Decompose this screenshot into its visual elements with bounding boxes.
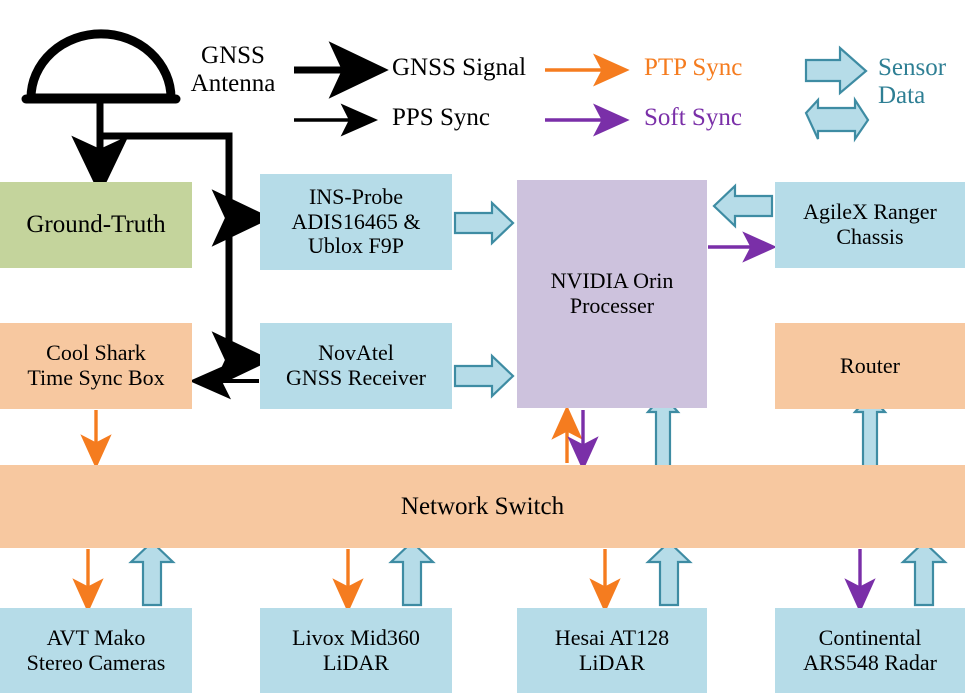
node-novatel[interactable]: NovAtel GNSS Receiver [260, 323, 452, 409]
node-network-switch[interactable]: Network Switch [0, 465, 965, 548]
node-ground-truth[interactable]: Ground-Truth [0, 182, 192, 268]
blockarrow-livox-to-switch [391, 542, 433, 605]
node-avt-mako[interactable]: AVT Mako Stereo Cameras [0, 608, 192, 693]
node-agilex[interactable]: AgileX Ranger Chassis [775, 182, 965, 268]
blockarrow-agilex-to-orin [714, 186, 772, 226]
legend-label-sensor-data: Sensor Data [878, 54, 946, 110]
node-router[interactable]: Router [775, 323, 965, 409]
blockarrow-hesai-to-switch [648, 542, 690, 605]
node-livox[interactable]: Livox Mid360 LiDAR [260, 608, 452, 693]
blockarrow-insprobe-to-orin [455, 203, 513, 243]
legend-label-soft-sync: Soft Sync [644, 104, 742, 132]
antenna-label: GNSS Antenna [178, 42, 288, 98]
legend-label-gnss-signal: GNSS Signal [392, 54, 526, 82]
legend-label-ptp-sync: PTP Sync [644, 54, 742, 82]
node-cool-shark[interactable]: Cool Shark Time Sync Box [0, 323, 192, 409]
node-continental[interactable]: Continental ARS548 Radar [775, 608, 965, 693]
blockarrow-continental-to-switch [903, 542, 945, 605]
gnss-antenna-dome-icon [26, 34, 176, 99]
node-ins-probe[interactable]: INS-Probe ADIS16465 & Ublox F9P [260, 174, 452, 270]
diagram-canvas: GNSS Antenna GNSS Signal PPS Sync PTP Sy… [0, 0, 965, 693]
legend-label-pps-sync: PPS Sync [392, 104, 490, 132]
blockarrow-novatel-to-orin [455, 356, 513, 396]
blockarrow-avtmako-to-switch [131, 542, 173, 605]
node-orin[interactable]: NVIDIA Orin Processer [517, 180, 707, 408]
legend-blockarrow-double [806, 100, 868, 139]
legend-blockarrow-single [806, 48, 866, 93]
node-hesai[interactable]: Hesai AT128 LiDAR [517, 608, 707, 693]
